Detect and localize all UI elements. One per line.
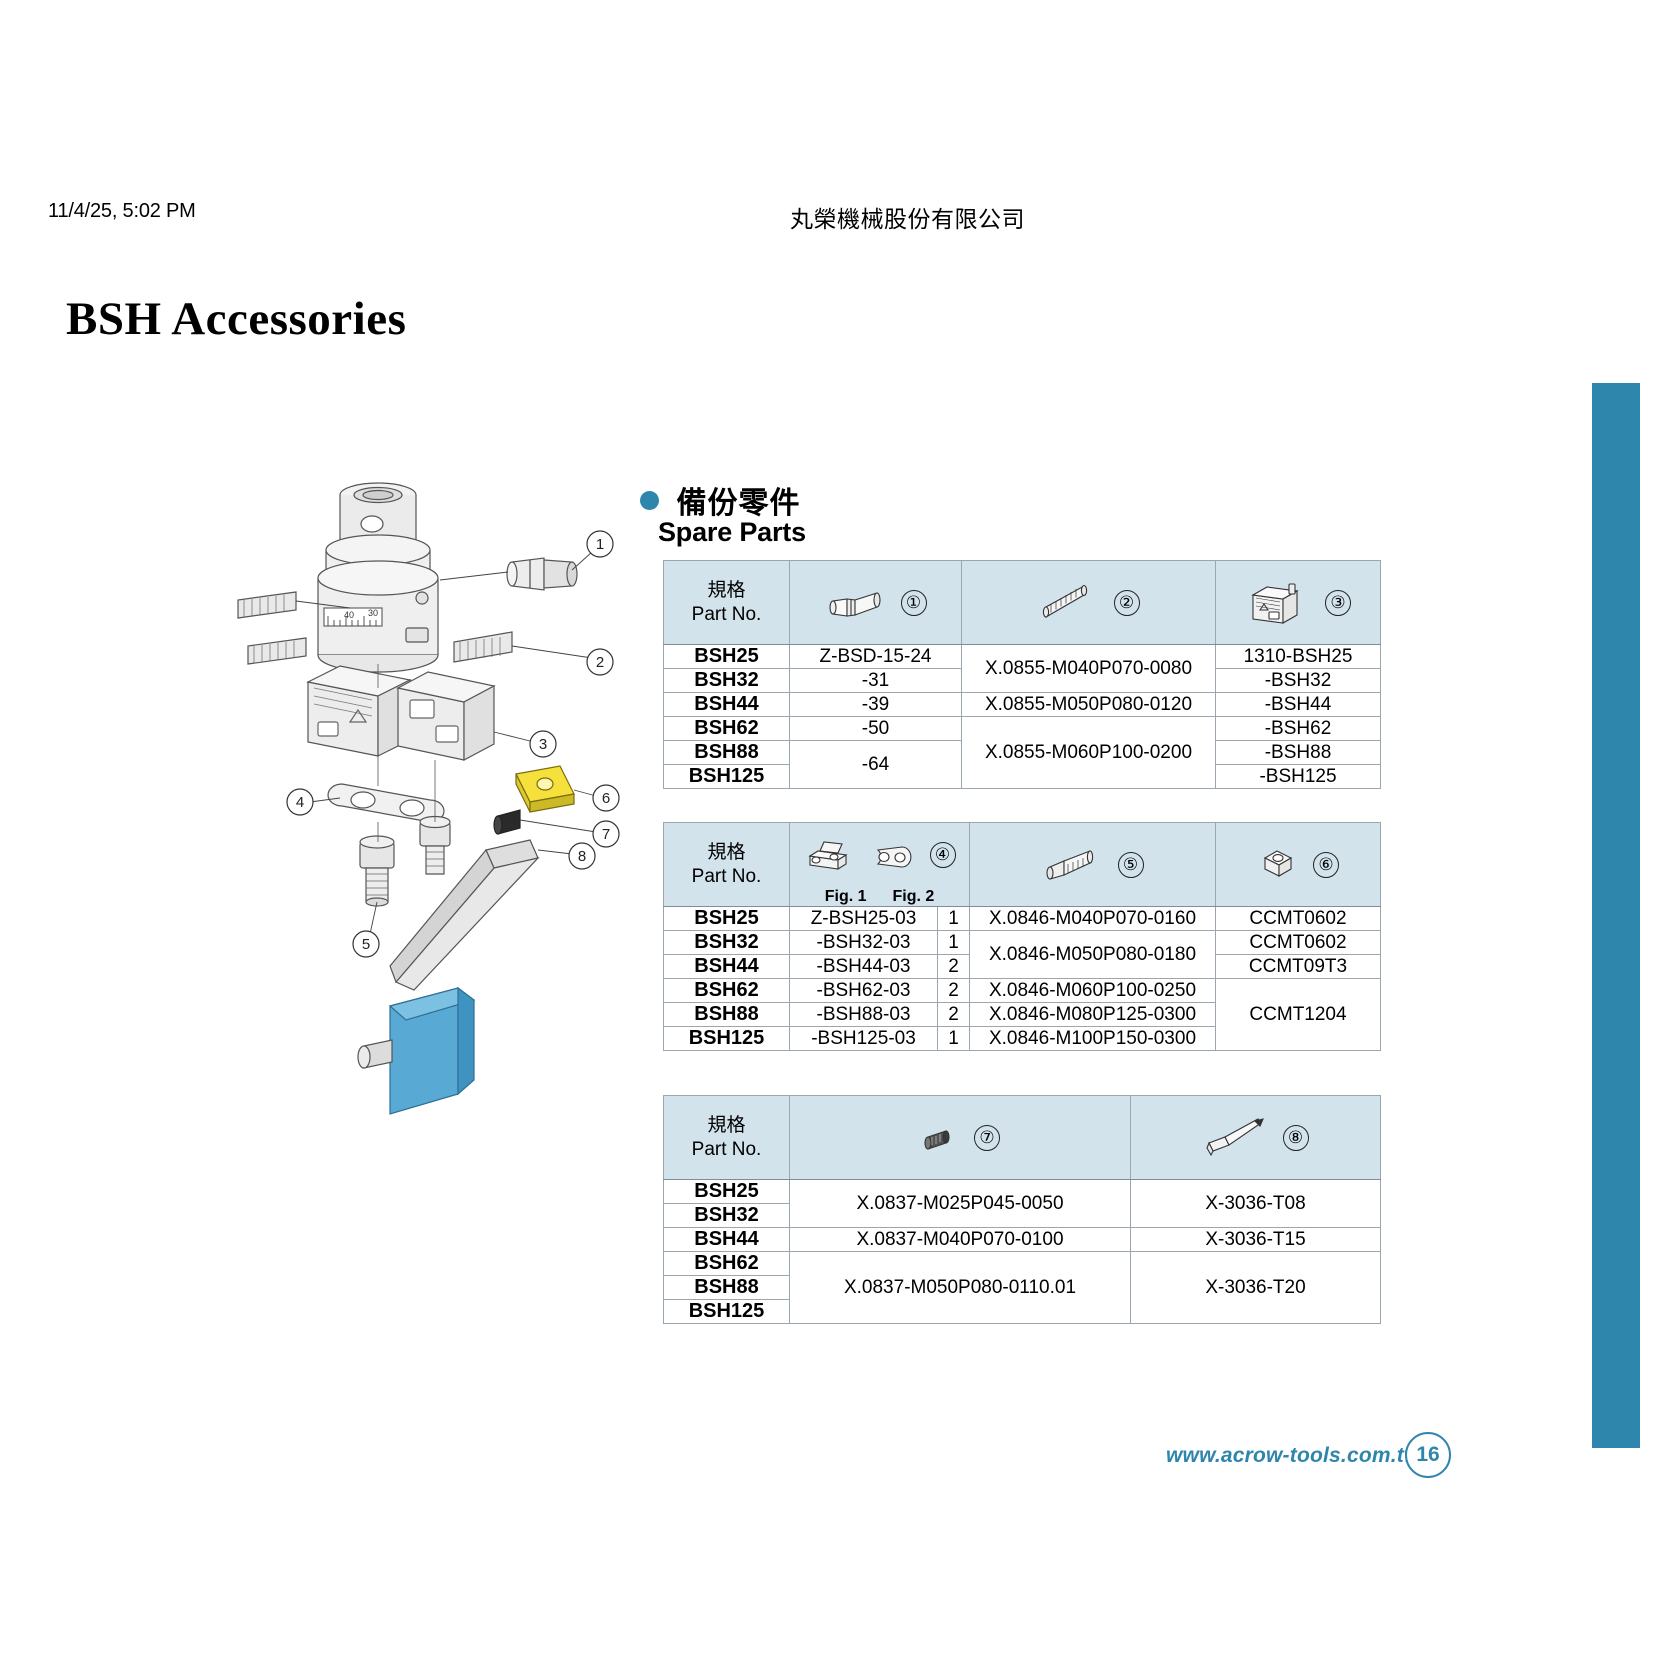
cell-partno: BSH44 (664, 955, 790, 979)
callout-7: 7 (602, 826, 610, 843)
set-screw-icon (1038, 583, 1100, 623)
cell-partno: BSH62 (664, 717, 790, 741)
part-1-bushing (507, 558, 577, 590)
part-6-insert (516, 766, 574, 812)
cell-partno: BSH62 (664, 979, 790, 1003)
company-name: 丸榮機械股份有限公司 (790, 200, 1025, 234)
part-2-setscrew-c (454, 632, 512, 662)
cartridge-icon (1245, 579, 1311, 627)
table-1-header-row: 規格 Part No. (664, 561, 1381, 645)
cell-item1: -50 (790, 717, 962, 741)
callout-8: 8 (578, 848, 586, 865)
cell-partno: BSH125 (664, 765, 790, 789)
section-heading: 備份零件 (640, 478, 800, 522)
cell-item3: -BSH32 (1216, 669, 1381, 693)
cell-partno: BSH62 (664, 1252, 790, 1276)
cell-partno: BSH125 (664, 1300, 790, 1324)
cell-partno: BSH125 (664, 1027, 790, 1051)
table-row: BSH62 -50 X.0855-M060P100-0200 -BSH62 (664, 717, 1381, 741)
table-2-header-row: 規格 Part No. (664, 823, 1381, 907)
clamp-block-fig2-icon (872, 838, 916, 872)
callout-5-icon: ⑤ (1118, 852, 1144, 878)
header-partno-en: Part No. (670, 865, 783, 888)
part-3-cartridge-left (308, 666, 410, 756)
header-cell-partno: 規格 Part No. (664, 1096, 790, 1180)
website-url[interactable]: www.acrow-tools.com.tw (1166, 1444, 1420, 1468)
header-partno-cn: 規格 (670, 841, 783, 864)
header-cell-item-4: ④ Fig. 1 Fig. 2 (790, 823, 970, 907)
page-number-badge: 16 (1405, 1432, 1451, 1478)
cell-item5: X.0846-M100P150-0300 (970, 1027, 1216, 1051)
cell-item4: Z-BSH25-03 (790, 907, 938, 931)
callout-2: 2 (596, 654, 604, 671)
table-row: BSH25 Z-BSH25-03 1 X.0846-M040P070-0160 … (664, 907, 1381, 931)
part-2-setscrew-b (248, 638, 306, 664)
cell-item3: -BSH88 (1216, 741, 1381, 765)
cell-item1: -64 (790, 741, 962, 789)
cell-item3: -BSH44 (1216, 693, 1381, 717)
fig-2-label: Fig. 2 (893, 888, 935, 906)
dial-label-30: 30 (368, 608, 378, 618)
dial-label-40: 40 (344, 610, 354, 620)
header-partno-cn: 規格 (670, 1114, 783, 1137)
header-partno-cn: 規格 (670, 579, 783, 602)
cell-item6: CCMT09T3 (1216, 955, 1381, 979)
header-cell-item-7: ⑦ (790, 1096, 1131, 1180)
cell-qty: 1 (938, 907, 970, 931)
callout-6: 6 (602, 790, 610, 807)
cell-partno: BSH44 (664, 1228, 790, 1252)
cell-item8: X-3036-T20 (1131, 1252, 1381, 1324)
cell-item2: X.0855-M050P080-0120 (962, 693, 1216, 717)
cell-item1: -31 (790, 669, 962, 693)
callout-5: 5 (362, 936, 370, 953)
cell-item4: -BSH88-03 (790, 1003, 938, 1027)
callout-4: 4 (296, 794, 304, 811)
table-row: BSH32 -BSH32-03 1 X.0846-M050P080-0180 C… (664, 931, 1381, 955)
boring-bar-shank (358, 988, 474, 1114)
cell-item4: -BSH44-03 (790, 955, 938, 979)
cell-partno: BSH44 (664, 693, 790, 717)
cell-qty: 2 (938, 1003, 970, 1027)
header-cell-item-8: ⑧ (1131, 1096, 1381, 1180)
header-partno-en: Part No. (670, 1138, 783, 1161)
cell-item6: CCMT1204 (1216, 979, 1381, 1051)
table-row: BSH25 Z-BSD-15-24 X.0855-M040P070-0080 1… (664, 645, 1381, 669)
section-heading-cn: 備份零件 (676, 478, 800, 522)
header-cell-item-1: ① (790, 561, 962, 645)
section-heading-en: Spare Parts (658, 517, 806, 548)
cell-item8: X-3036-T08 (1131, 1180, 1381, 1228)
callout-8-icon: ⑧ (1283, 1125, 1309, 1151)
part-4-clamp-plate (328, 784, 444, 822)
cell-qty: 2 (938, 955, 970, 979)
page-title: BSH Accessories (66, 292, 406, 346)
cell-partno: BSH32 (664, 931, 790, 955)
cell-item1: -39 (790, 693, 962, 717)
table-row: BSH25 X.0837-M025P045-0050 X-3036-T08 (664, 1180, 1381, 1204)
cell-partno: BSH32 (664, 669, 790, 693)
spare-parts-table-3: 規格 Part No. (663, 1095, 1381, 1324)
part-8-torx-wrench (390, 840, 538, 990)
spare-parts-table-1: 規格 Part No. (663, 560, 1381, 789)
cell-item5: X.0846-M080P125-0300 (970, 1003, 1216, 1027)
cell-item5: X.0846-M040P070-0160 (970, 907, 1216, 931)
cell-item2: X.0855-M060P100-0200 (962, 717, 1216, 789)
callout-4-icon: ④ (930, 842, 956, 868)
header-cell-partno: 規格 Part No. (664, 561, 790, 645)
table-3-header-row: 規格 Part No. (664, 1096, 1381, 1180)
cell-item7: X.0837-M050P080-0110.01 (790, 1252, 1131, 1324)
cell-partno: BSH32 (664, 1204, 790, 1228)
cell-item2: X.0855-M040P070-0080 (962, 645, 1216, 693)
part-3-cartridge-right (398, 672, 494, 760)
callout-1-icon: ① (901, 590, 927, 616)
table-row: BSH62 -BSH62-03 2 X.0846-M060P100-0250 C… (664, 979, 1381, 1003)
callout-7-icon: ⑦ (974, 1125, 1000, 1151)
torx-wrench-icon (1203, 1117, 1269, 1159)
clamp-block-fig1-icon (804, 838, 858, 872)
fig-1-label: Fig. 1 (825, 888, 867, 906)
grub-screw-icon (920, 1121, 960, 1155)
header-cell-item-3: ③ (1216, 561, 1381, 645)
header-cell-partno: 規格 Part No. (664, 823, 790, 907)
side-accent-bar (1592, 383, 1640, 1448)
bsh-boring-head-exploded-diagram: 40 30 1 (200, 450, 660, 1150)
cell-item3: -BSH125 (1216, 765, 1381, 789)
cell-item8: X-3036-T15 (1131, 1228, 1381, 1252)
cell-qty: 2 (938, 979, 970, 1003)
cell-qty: 1 (938, 931, 970, 955)
table-row: BSH44 -39 X.0855-M050P080-0120 -BSH44 (664, 693, 1381, 717)
cell-item3: -BSH62 (1216, 717, 1381, 741)
cell-item4: -BSH32-03 (790, 931, 938, 955)
cell-partno: BSH88 (664, 741, 790, 765)
header-cell-item-2: ② (962, 561, 1216, 645)
header-cell-item-6: ⑥ (1216, 823, 1381, 907)
table-row: BSH44 X.0837-M040P070-0100 X-3036-T15 (664, 1228, 1381, 1252)
cell-item5: X.0846-M060P100-0250 (970, 979, 1216, 1003)
part-7-grubscrew (494, 810, 520, 834)
header-partno-en: Part No. (670, 603, 783, 626)
cell-item1: Z-BSD-15-24 (790, 645, 962, 669)
cell-item7: X.0837-M025P045-0050 (790, 1180, 1131, 1228)
cell-partno: BSH25 (664, 645, 790, 669)
spare-parts-table-2: 規格 Part No. (663, 822, 1381, 1051)
part-5-capscrew-a (360, 836, 394, 906)
cell-partno: BSH88 (664, 1003, 790, 1027)
cell-item5: X.0846-M050P080-0180 (970, 931, 1216, 979)
catalog-page: 11/4/25, 5:02 PM 丸榮機械股份有限公司 BSH Accessor… (0, 0, 1676, 1676)
cell-item4: -BSH62-03 (790, 979, 938, 1003)
callout-3-icon: ③ (1325, 590, 1351, 616)
cell-partno: BSH25 (664, 907, 790, 931)
cell-qty: 1 (938, 1027, 970, 1051)
part-5-capscrew-b (420, 817, 450, 875)
cap-screw-icon (1042, 845, 1104, 885)
callout-3: 3 (539, 736, 547, 753)
callout-1: 1 (596, 536, 604, 553)
callout-6-icon: ⑥ (1313, 852, 1339, 878)
cell-item6: CCMT0602 (1216, 907, 1381, 931)
cell-item6: CCMT0602 (1216, 931, 1381, 955)
table-row: BSH62 X.0837-M050P080-0110.01 X-3036-T20 (664, 1252, 1381, 1276)
insert-icon (1257, 846, 1299, 884)
callout-2-icon: ② (1114, 590, 1140, 616)
pin-bushing-icon (825, 583, 887, 623)
cell-partno: BSH25 (664, 1180, 790, 1204)
cell-item4: -BSH125-03 (790, 1027, 938, 1051)
cell-item3: 1310-BSH25 (1216, 645, 1381, 669)
print-timestamp: 11/4/25, 5:02 PM (48, 200, 196, 223)
header-cell-item-5: ⑤ (970, 823, 1216, 907)
cell-partno: BSH88 (664, 1276, 790, 1300)
cell-item7: X.0837-M040P070-0100 (790, 1228, 1131, 1252)
